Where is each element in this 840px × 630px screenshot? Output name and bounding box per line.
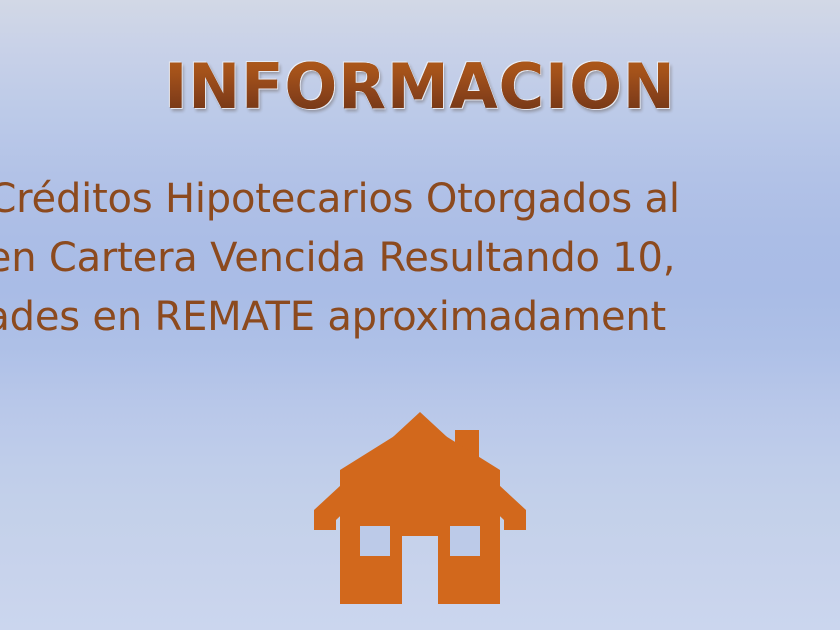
slide-canvas: INFORMACION INFORMACION de los Créditos … bbox=[0, 0, 840, 630]
slide-title-text: INFORMACION bbox=[164, 56, 676, 118]
slide-body-text: de los Créditos Hipotecarios Otorgados a… bbox=[0, 176, 840, 361]
house-graphic bbox=[0, 408, 840, 608]
body-line-1: de los Créditos Hipotecarios Otorgados a… bbox=[0, 176, 680, 222]
body-line-2: minan en Cartera Vencida Resultando 10, bbox=[0, 235, 675, 281]
house-icon bbox=[314, 408, 526, 608]
house-window-left-icon bbox=[360, 526, 390, 556]
house-window-right-icon bbox=[450, 526, 480, 556]
body-line-3: ropiedades en REMATE aproximadament bbox=[0, 294, 666, 340]
